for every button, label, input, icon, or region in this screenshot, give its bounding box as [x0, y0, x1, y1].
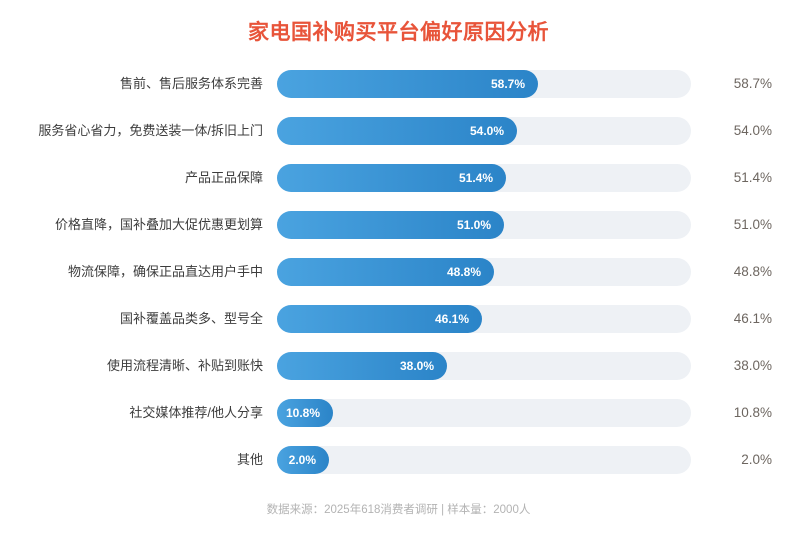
bar-inside-value: 38.0%: [400, 359, 434, 373]
bar-row: 产品正品保障 51.4% 51.4%: [0, 154, 797, 201]
source-annotation: 数据来源：2025年618消费者调研 | 样本量：2000人: [0, 501, 797, 517]
bar-row: 其他 2.0% 2.0%: [0, 436, 797, 483]
bar-row: 使用流程清晰、补贴到账快 38.0% 38.0%: [0, 342, 797, 389]
category-label: 价格直降，国补叠加大促优惠更划算: [0, 217, 277, 233]
bar-row: 售前、售后服务体系完善 58.7% 58.7%: [0, 60, 797, 107]
row-value-label: 54.0%: [691, 123, 797, 138]
row-value-label: 10.8%: [691, 405, 797, 420]
row-value-label: 2.0%: [691, 452, 797, 467]
bar-row: 国补覆盖品类多、型号全 46.1% 46.1%: [0, 295, 797, 342]
bar-inside-value: 10.8%: [286, 406, 320, 420]
bar-inside-value: 54.0%: [470, 124, 504, 138]
chart-container: 家电国补购买平台偏好原因分析 售前、售后服务体系完善 58.7% 58.7% 服…: [0, 0, 797, 534]
bar-row: 社交媒体推荐/他人分享 10.8% 10.8%: [0, 389, 797, 436]
bar-inside-value: 48.8%: [447, 265, 481, 279]
category-label: 产品正品保障: [0, 170, 277, 186]
bar-inside-value: 58.7%: [491, 77, 525, 91]
bar-row: 价格直降，国补叠加大促优惠更划算 51.0% 51.0%: [0, 201, 797, 248]
row-value-label: 58.7%: [691, 76, 797, 91]
bar-inside-value: 51.0%: [457, 218, 491, 232]
bar-track: 38.0%: [277, 352, 691, 380]
bar-track: 2.0%: [277, 446, 691, 474]
row-value-label: 51.0%: [691, 217, 797, 232]
row-value-label: 38.0%: [691, 358, 797, 373]
category-label: 售前、售后服务体系完善: [0, 76, 277, 92]
bar-inside-value: 51.4%: [459, 171, 493, 185]
category-label: 服务省心省力，免费送装一体/拆旧上门: [0, 123, 277, 139]
bar-fill[interactable]: 51.0%: [277, 211, 504, 239]
row-value-label: 48.8%: [691, 264, 797, 279]
bar-rows: 售前、售后服务体系完善 58.7% 58.7% 服务省心省力，免费送装一体/拆旧…: [0, 60, 797, 483]
row-value-label: 46.1%: [691, 311, 797, 326]
bar-track: 48.8%: [277, 258, 691, 286]
bar-track: 46.1%: [277, 305, 691, 333]
bar-fill[interactable]: 48.8%: [277, 258, 494, 286]
bar-fill[interactable]: 54.0%: [277, 117, 517, 145]
category-label: 使用流程清晰、补贴到账快: [0, 358, 277, 374]
bar-track: 54.0%: [277, 117, 691, 145]
category-label: 其他: [0, 452, 277, 468]
category-label: 社交媒体推荐/他人分享: [0, 405, 277, 421]
bar-row: 服务省心省力，免费送装一体/拆旧上门 54.0% 54.0%: [0, 107, 797, 154]
bar-fill[interactable]: 38.0%: [277, 352, 447, 380]
row-value-label: 51.4%: [691, 170, 797, 185]
bar-fill[interactable]: 51.4%: [277, 164, 506, 192]
bar-track: 10.8%: [277, 399, 691, 427]
chart-title: 家电国补购买平台偏好原因分析: [0, 16, 797, 46]
bar-track: 51.0%: [277, 211, 691, 239]
bar-fill[interactable]: 2.0%: [277, 446, 329, 474]
bar-track: 51.4%: [277, 164, 691, 192]
bar-inside-value: 46.1%: [435, 312, 469, 326]
bar-row: 物流保障，确保正品直达用户手中 48.8% 48.8%: [0, 248, 797, 295]
category-label: 物流保障，确保正品直达用户手中: [0, 264, 277, 280]
bar-inside-value: 2.0%: [289, 453, 316, 467]
bar-fill[interactable]: 10.8%: [277, 399, 333, 427]
category-label: 国补覆盖品类多、型号全: [0, 311, 277, 327]
bar-fill[interactable]: 58.7%: [277, 70, 538, 98]
bar-fill[interactable]: 46.1%: [277, 305, 482, 333]
bar-track: 58.7%: [277, 70, 691, 98]
